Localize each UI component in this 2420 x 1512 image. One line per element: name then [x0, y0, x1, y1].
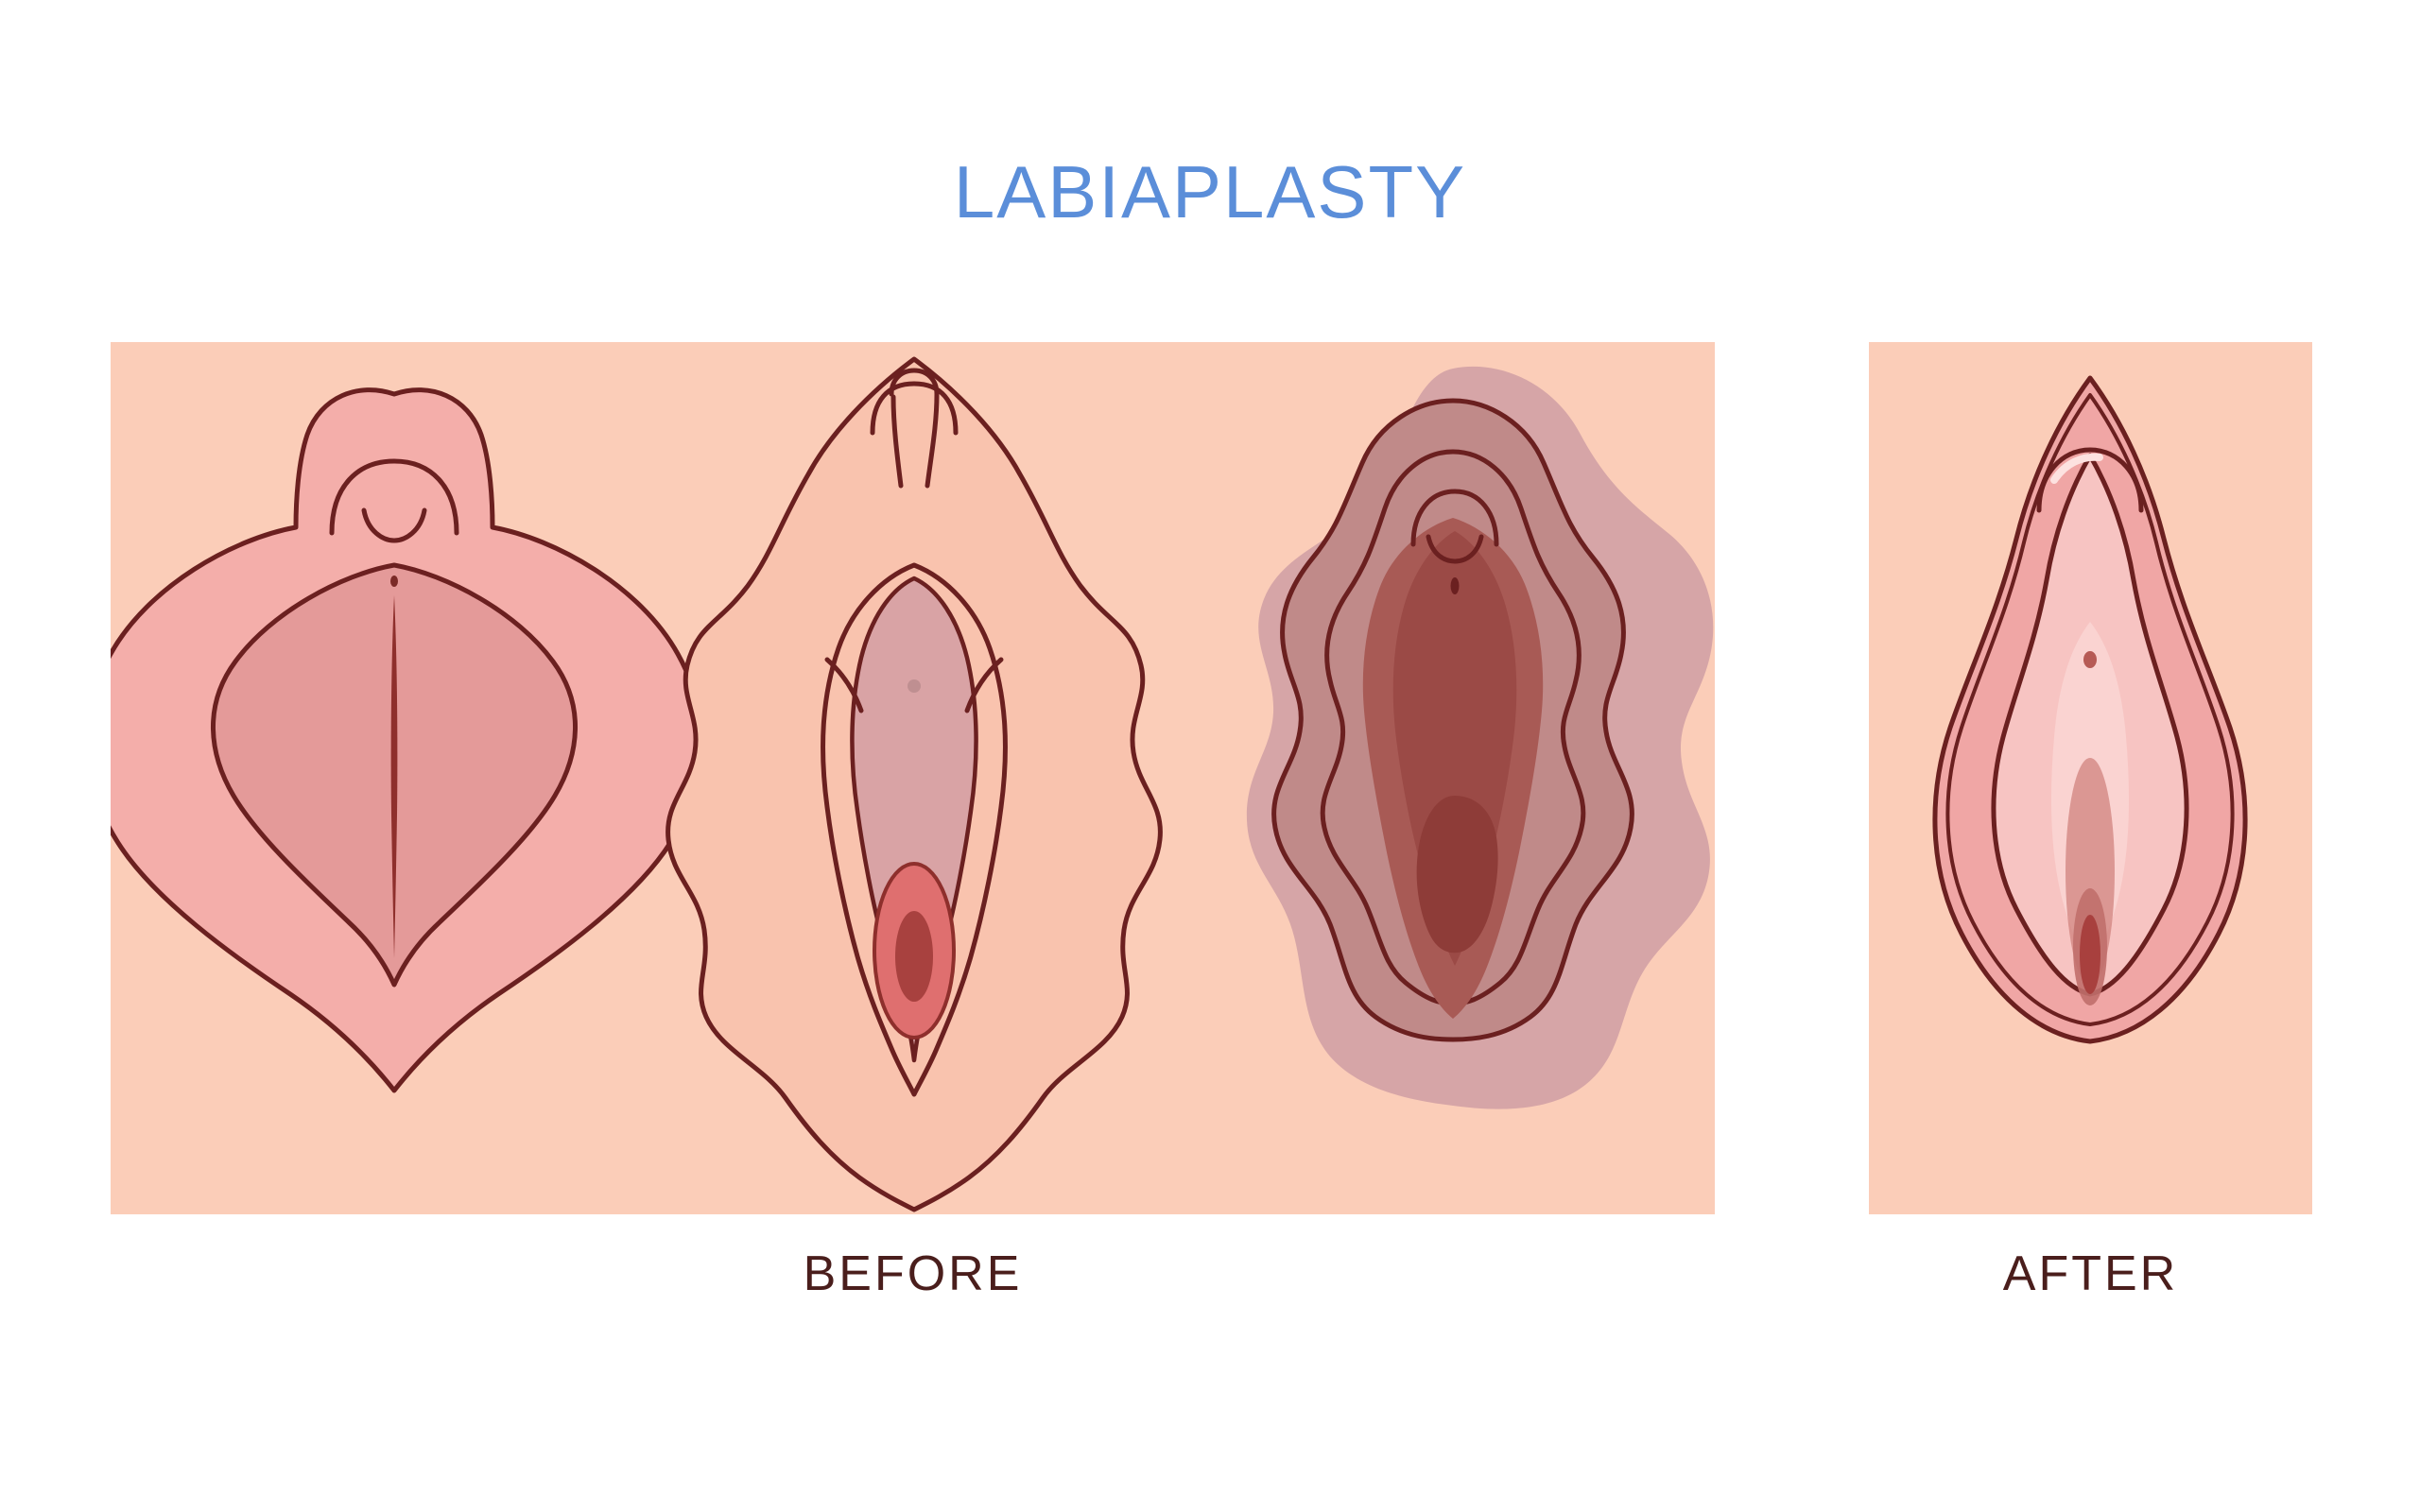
vaginal-opening-inner	[2080, 915, 2100, 994]
urethral-opening-dot	[2083, 651, 2097, 668]
after-figure-svg	[1869, 342, 2312, 1214]
page-title: LABIAPLASTY	[0, 149, 2420, 235]
figure-swollen-irritated-labia	[1247, 367, 1713, 1109]
figure-hypertrophic-labia-wide	[111, 390, 702, 1091]
caption-before: BEFORE	[111, 1246, 1715, 1302]
vaginal-opening-inner	[895, 911, 933, 1002]
urethral-opening-dot	[390, 576, 398, 587]
caption-after: AFTER	[1869, 1246, 2312, 1302]
before-panel	[111, 342, 1715, 1214]
after-panel	[1869, 342, 2312, 1214]
before-figures-svg	[111, 342, 1715, 1214]
urethral-opening-dot	[907, 679, 921, 693]
urethral-opening-dot	[1451, 577, 1460, 594]
figure-hypertrophic-labia-elongated	[668, 359, 1161, 1210]
figure-corrected-labia	[1935, 378, 2245, 1041]
illustration-canvas: LABIAPLASTY	[0, 0, 2420, 1512]
